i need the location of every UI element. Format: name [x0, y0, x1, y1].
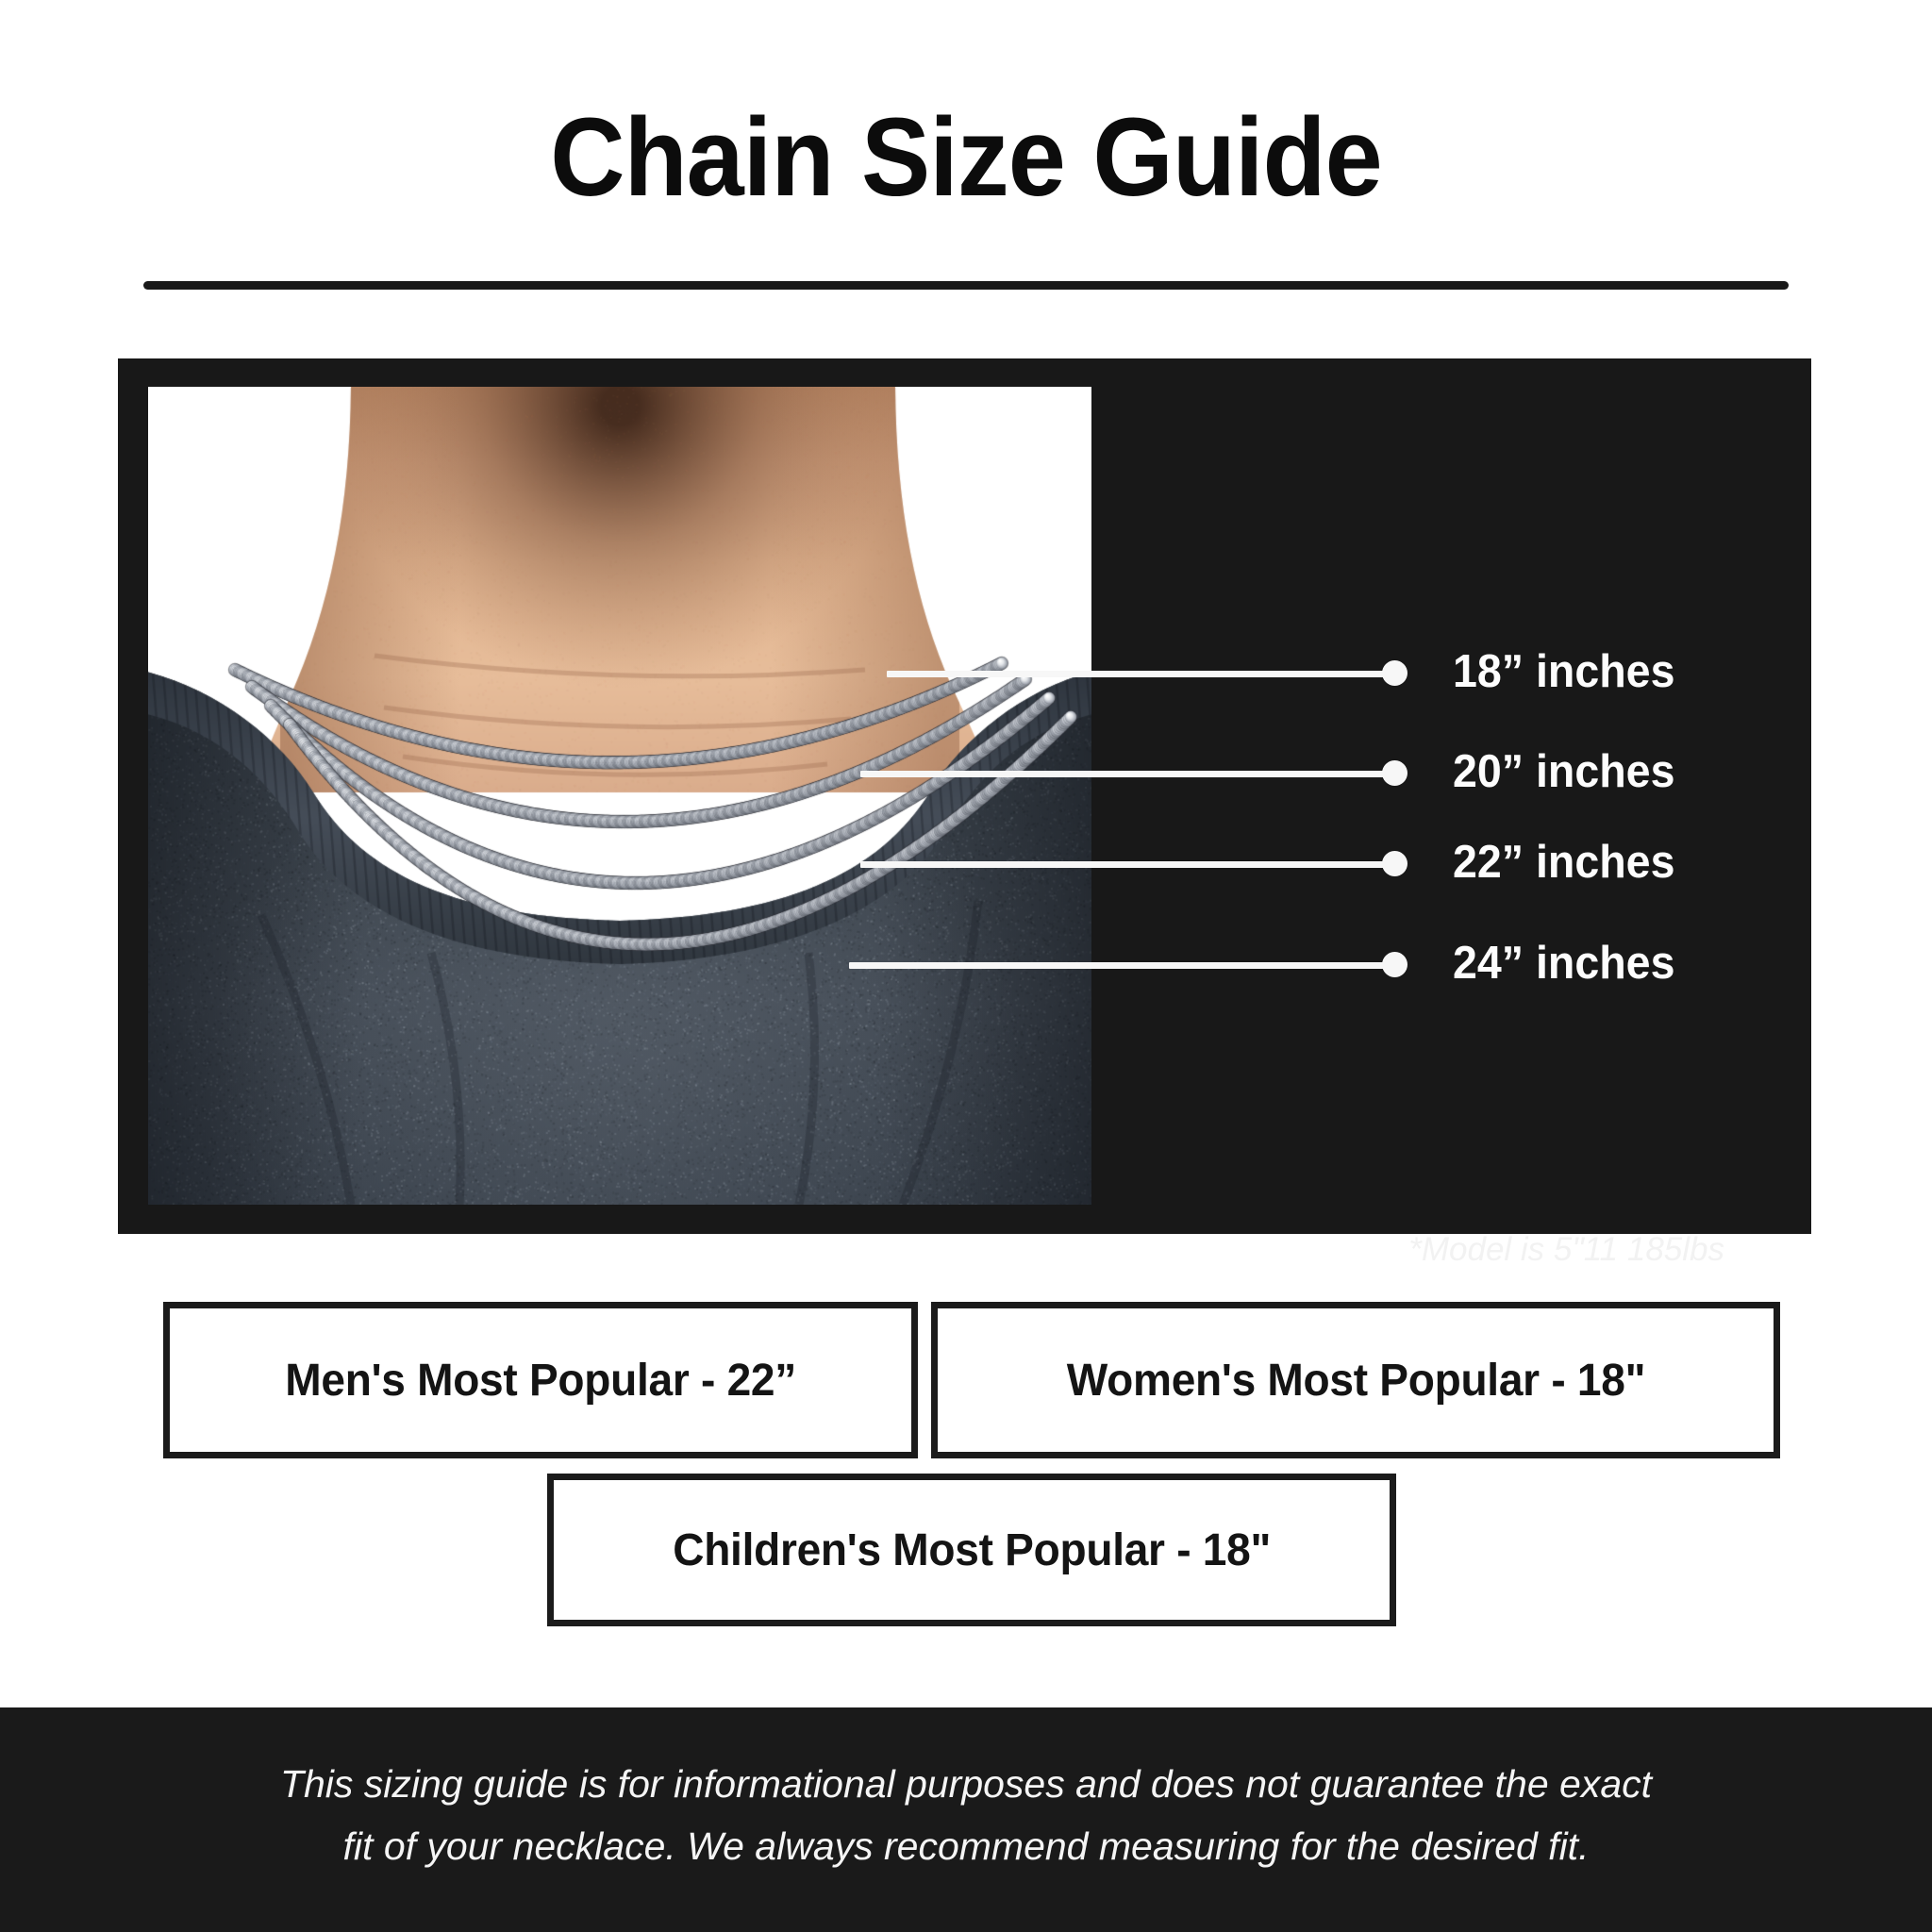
title-divider-rule [143, 281, 1789, 290]
size-label-2: 22” inches [1453, 836, 1674, 889]
hero-panel: 18” inches20” inches22” inches24” inches… [118, 358, 1811, 1234]
mens-popular-label: Men's Most Popular - 22” [285, 1355, 796, 1407]
leader-line-3 [849, 962, 1394, 969]
size-label-0: 18” inches [1453, 645, 1674, 698]
footer-band: This sizing guide is for informational p… [0, 1707, 1932, 1932]
leader-dot-3 [1382, 952, 1407, 977]
womens-popular-box[interactable]: Women's Most Popular - 18" [931, 1302, 1780, 1458]
leader-line-2 [860, 861, 1394, 868]
model-photo-canvas [148, 387, 1091, 1205]
footer-disclaimer: This sizing guide is for informational p… [230, 1753, 1702, 1878]
childrens-popular-box[interactable]: Children's Most Popular - 18" [547, 1474, 1396, 1626]
leader-line-0 [887, 671, 1394, 677]
footer-disclaimer-line-1: This sizing guide is for informational p… [230, 1753, 1702, 1815]
size-label-3: 24” inches [1453, 937, 1674, 990]
mens-popular-box[interactable]: Men's Most Popular - 22” [163, 1302, 918, 1458]
leader-dot-1 [1382, 760, 1407, 786]
leader-dot-0 [1382, 660, 1407, 686]
header: Chain Size Guide [0, 0, 1932, 283]
childrens-popular-label: Children's Most Popular - 18" [673, 1524, 1271, 1576]
leader-line-1 [860, 771, 1394, 777]
leader-dot-2 [1382, 851, 1407, 876]
page-title: Chain Size Guide [68, 102, 1865, 213]
womens-popular-label: Women's Most Popular - 18" [1066, 1355, 1644, 1407]
size-label-1: 20” inches [1453, 745, 1674, 798]
model-note: *Model is 5"11 185lbs [1408, 1231, 1724, 1269]
model-photo [148, 387, 1091, 1205]
footer-disclaimer-line-2: fit of your necklace. We always recommen… [230, 1815, 1702, 1877]
